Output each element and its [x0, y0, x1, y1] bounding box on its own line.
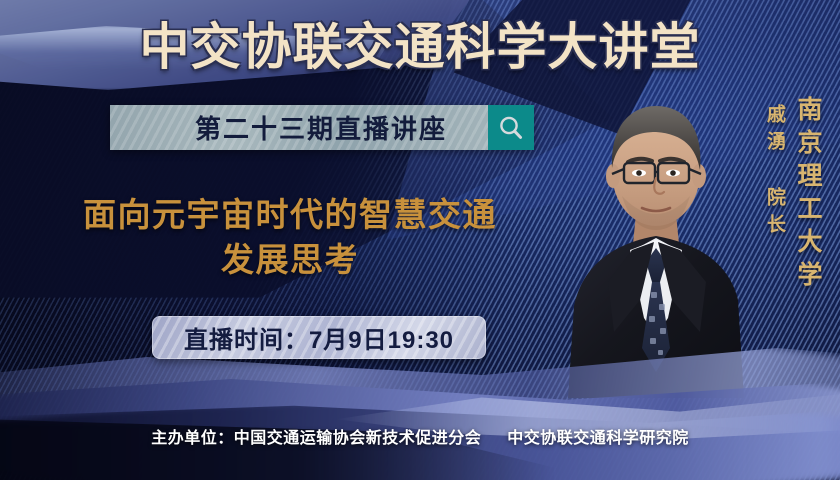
lecture-title-line2: 发展思考	[30, 237, 550, 282]
live-time-label: 直播时间：7月9日19:30	[184, 320, 454, 355]
speaker-name-title: 戚湧 院长	[761, 104, 788, 241]
page-title: 中交协联交通科学大讲堂	[0, 17, 840, 77]
episode-label: 第二十三期直播讲座	[145, 109, 453, 146]
episode-bar-body: 第二十三期直播讲座	[110, 105, 488, 150]
footer-prefix: 主办单位：	[151, 430, 234, 447]
footer-org-2: 中交协联交通科学研究院	[507, 430, 689, 447]
speaker-portrait	[566, 86, 746, 398]
search-icon[interactable]	[488, 105, 534, 150]
lecture-title-line1: 面向元宇宙时代的智慧交通	[83, 196, 497, 233]
live-time-badge: 直播时间：7月9日19:30	[152, 316, 486, 359]
lecture-title: 面向元宇宙时代的智慧交通 发展思考	[30, 192, 550, 282]
episode-bar: 第二十三期直播讲座	[110, 105, 534, 150]
footer-organizers: 主办单位：中国交通运输协会新技术促进分会中交协联交通科学研究院	[0, 424, 840, 448]
speaker-affiliation: 南京理工大学	[790, 96, 826, 294]
footer-org-1: 中国交通运输协会新技术促进分会	[234, 430, 482, 447]
live-stream-poster: 中交协联交通科学大讲堂 第二十三期直播讲座 面向元宇宙时代的智慧交通 发展思考 …	[0, 0, 840, 480]
